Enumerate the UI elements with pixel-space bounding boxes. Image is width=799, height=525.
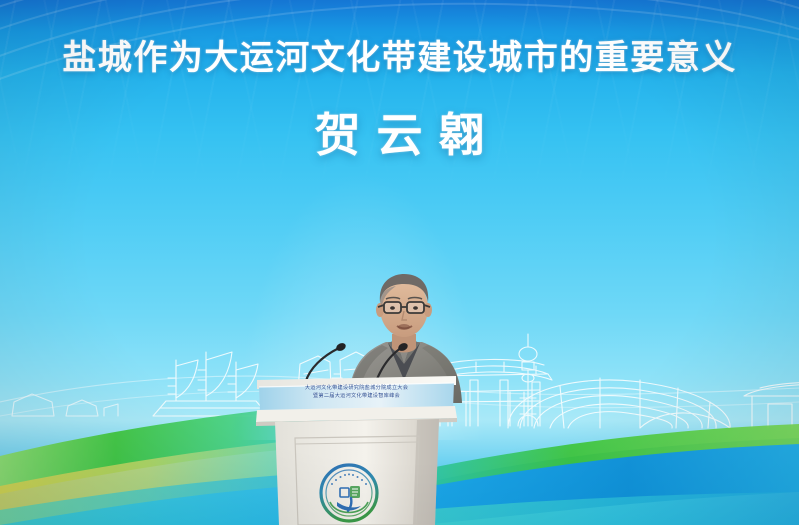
emblem-book-glyph <box>340 486 360 498</box>
stage-photo: 盐城作为大运河文化带建设城市的重要意义 贺云翱 <box>0 0 799 525</box>
backdrop-arc-lines <box>0 0 799 140</box>
research-institute-emblem <box>318 462 380 524</box>
microphone-left-capsule <box>335 342 347 353</box>
lectern-banner-line-2: 暨第二届大运河文化带建设智库峰会 <box>253 392 460 400</box>
lectern-banner-line-1: 大运河文化带建设研究院盐城分院成立大会 <box>253 384 460 392</box>
emblem-arc-text <box>331 473 367 485</box>
